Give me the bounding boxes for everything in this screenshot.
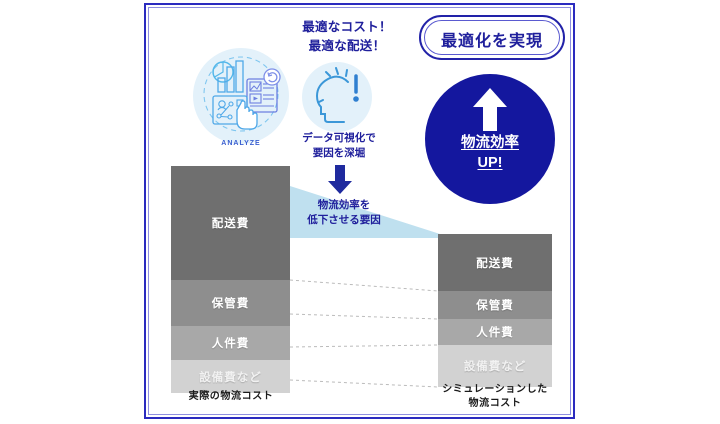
- bar-segment: 保管費: [438, 291, 552, 319]
- idea-caption-line-1: データ可視化で: [287, 131, 391, 146]
- bar-segment: 保管費: [171, 280, 290, 326]
- caption-right-line-1: シミュレーションした: [428, 383, 562, 397]
- band-line-1: 物流効率を: [294, 198, 394, 213]
- result-line-1: 物流効率: [425, 133, 555, 153]
- bar-segment-label: 保管費: [476, 297, 514, 313]
- bar-simulated-cost-caption: シミュレーションした 物流コスト: [428, 383, 562, 411]
- bar-segment: 設備費など: [171, 360, 290, 393]
- analyze-icon-label: ANALYZE: [193, 140, 289, 147]
- bar-segment-label: 配送費: [212, 215, 250, 231]
- bar-simulated-cost: 配送費 保管費 人件費 設備費など: [438, 234, 552, 387]
- idea-caption-line-2: 要因を深堀: [287, 146, 391, 161]
- bar-segment-label: 設備費など: [464, 358, 527, 374]
- bar-segment-label: 設備費など: [199, 369, 262, 385]
- head-idea-icon: [302, 62, 372, 132]
- result-line-2: UP!: [425, 153, 555, 173]
- bar-segment-label: 保管費: [212, 295, 250, 311]
- bar-segment: 設備費など: [438, 345, 552, 387]
- bar-segment-label: 配送費: [476, 255, 514, 271]
- idea-icon-group: [302, 62, 376, 136]
- cost-reduction-band-label: 物流効率を 低下させる要因: [294, 198, 394, 228]
- bar-segment: 配送費: [438, 234, 552, 291]
- bar-segment-label: 人件費: [476, 324, 514, 340]
- idea-icon-caption: データ可視化で 要因を深堀: [287, 131, 391, 161]
- headline-line-1: 最適なコスト！: [272, 18, 422, 37]
- bar-segment: 人件費: [438, 319, 552, 345]
- band-line-2: 低下させる要因: [294, 213, 394, 228]
- bar-segment: 人件費: [171, 326, 290, 360]
- bar-segment-label: 人件費: [212, 335, 250, 351]
- analyze-dashboard-icon: [193, 48, 289, 144]
- result-circle-text: 物流効率 UP!: [425, 133, 555, 173]
- caption-right-line-2: 物流コスト: [428, 397, 562, 411]
- diagram-canvas: 最適なコスト！ 最適な配送！: [0, 0, 720, 424]
- bar-actual-cost-caption: 実際の物流コスト: [161, 390, 301, 404]
- arrow-up-icon: [472, 88, 508, 132]
- badge-label: 最適化を実現: [419, 27, 565, 51]
- bar-actual-cost: 配送費 保管費 人件費 設備費など: [171, 166, 290, 393]
- analyze-icon-group: ANALYZE: [193, 48, 297, 152]
- bar-segment: 配送費: [171, 166, 290, 280]
